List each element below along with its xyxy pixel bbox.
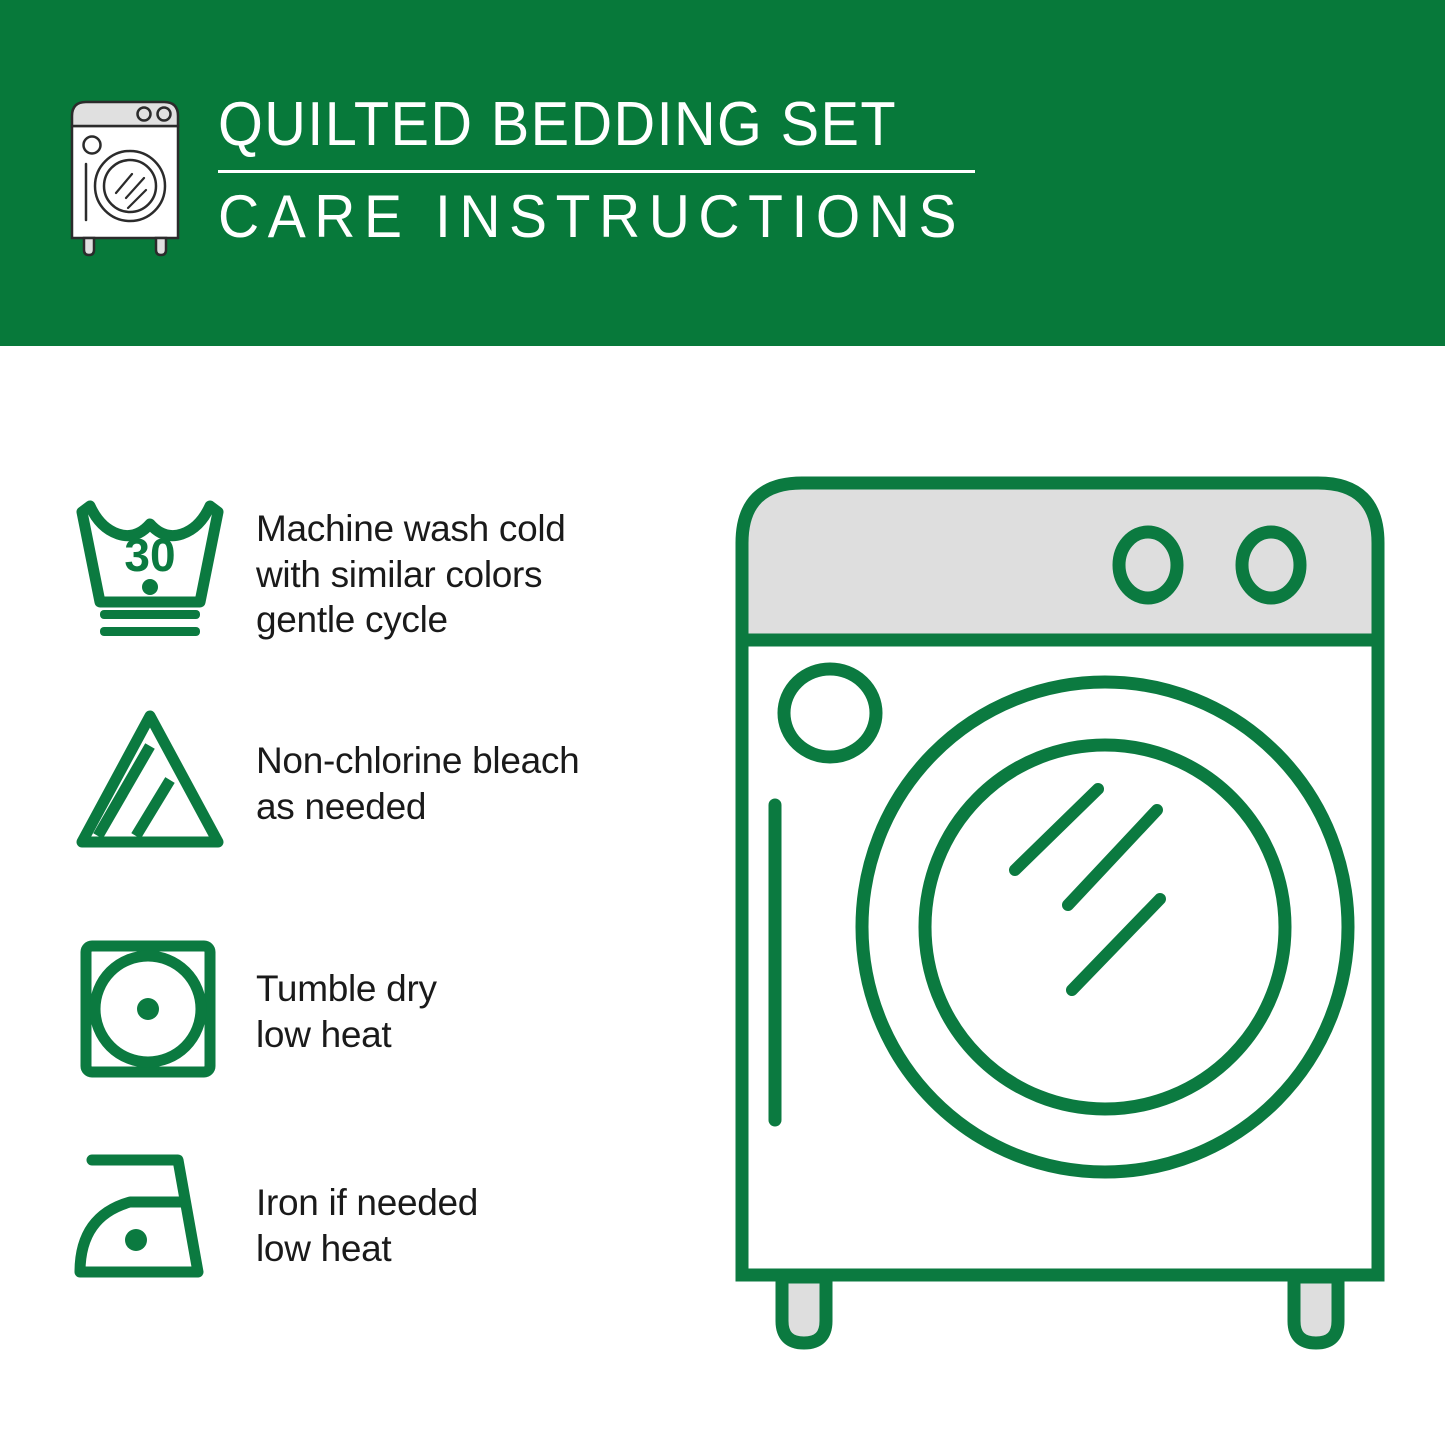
iron-icon <box>70 1144 230 1294</box>
care-row-label: Iron if needed low heat <box>256 1144 478 1271</box>
wash-temperature-value: 30 <box>124 529 175 581</box>
title-divider <box>218 170 975 173</box>
wash-dot <box>142 579 158 595</box>
page-subtitle: CARE INSTRUCTIONS <box>218 187 965 247</box>
page-title: QUILTED BEDDING SET <box>218 94 949 156</box>
care-row-label: Machine wash cold with similar colors ge… <box>256 494 566 643</box>
care-row-label: Tumble dry low heat <box>256 934 437 1057</box>
care-row: Iron if needed low heat <box>70 1144 478 1294</box>
dryer-heat-dot <box>137 998 159 1020</box>
control-panel <box>742 483 1378 640</box>
care-row-label: Non-chlorine bleach as needed <box>256 704 579 829</box>
bleach-triangle-icon <box>70 704 230 854</box>
header-band: QUILTED BEDDING SET CARE INSTRUCTIONS <box>0 0 1445 346</box>
wash-tub-30-icon: 30 <box>70 494 230 644</box>
care-instruction-list: 30 Machine wash cold with similar colors… <box>0 346 700 1445</box>
washing-machine-icon <box>64 98 186 258</box>
care-row: Non-chlorine bleach as needed <box>70 704 579 854</box>
tumble-dry-icon <box>70 934 230 1084</box>
leg-left <box>782 1277 826 1343</box>
care-row: Tumble dry low heat <box>70 934 437 1084</box>
iron-heat-dot <box>125 1229 147 1251</box>
front-load-washing-machine-illustration <box>720 465 1420 1355</box>
header-title-block: QUILTED BEDDING SET CARE INSTRUCTIONS <box>218 92 1004 247</box>
care-instructions-page: QUILTED BEDDING SET CARE INSTRUCTIONS 30… <box>0 0 1445 1445</box>
header-content: QUILTED BEDDING SET CARE INSTRUCTIONS <box>64 92 1004 258</box>
leg-right <box>1294 1277 1338 1343</box>
care-row: 30 Machine wash cold with similar colors… <box>70 494 566 644</box>
